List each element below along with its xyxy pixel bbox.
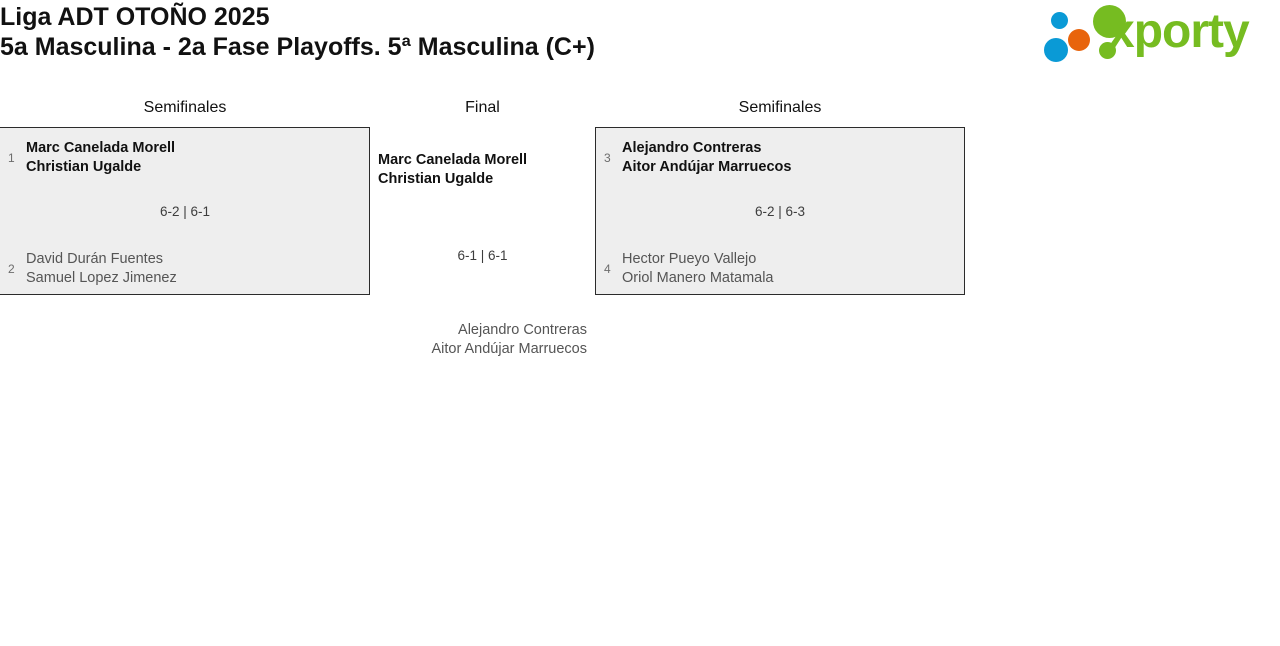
- team-slot-seed-1[interactable]: 1 Marc Canelada Morell Christian Ugalde: [8, 139, 175, 177]
- final-winner-team[interactable]: Marc Canelada Morell Christian Ugalde: [378, 151, 527, 189]
- logo-wordmark: xporty: [1108, 1, 1249, 63]
- seed-number: 2: [8, 262, 22, 276]
- match-score-semifinal-left: 6-2 | 6-1: [0, 203, 370, 220]
- match-score-final: 6-1 | 6-1: [370, 247, 595, 264]
- tournament-name: Liga ADT OTOÑO 2025: [0, 2, 595, 32]
- match-score-semifinal-right: 6-2 | 6-3: [595, 203, 965, 220]
- round-header-semifinals-left: Semifinales: [0, 98, 370, 118]
- player-name: David Durán Fuentes: [26, 250, 177, 269]
- player-name: Hector Pueyo Vallejo: [622, 250, 774, 269]
- player-name: Marc Canelada Morell: [26, 139, 175, 158]
- player-name: Christian Ugalde: [26, 158, 175, 177]
- player-name: Aitor Andújar Marruecos: [358, 340, 587, 359]
- xporty-logo[interactable]: xporty: [1040, 3, 1272, 65]
- team-players: Hector Pueyo Vallejo Oriol Manero Matama…: [622, 250, 774, 288]
- logo-dot-orange-icon: [1068, 29, 1090, 51]
- player-name: Samuel Lopez Jimenez: [26, 269, 177, 288]
- team-players: Alejandro Contreras Aitor Andújar Marrue…: [622, 139, 791, 177]
- seed-number: 4: [604, 262, 618, 276]
- page-title: Liga ADT OTOÑO 2025 5a Masculina - 2a Fa…: [0, 2, 595, 62]
- player-name: Oriol Manero Matamala: [622, 269, 774, 288]
- round-header-semifinals-right: Semifinales: [595, 98, 965, 118]
- player-name: Marc Canelada Morell: [378, 151, 527, 170]
- player-name: Christian Ugalde: [378, 170, 527, 189]
- team-players: David Durán Fuentes Samuel Lopez Jimenez: [26, 250, 177, 288]
- tournament-category: 5a Masculina - 2a Fase Playoffs. 5ª Masc…: [0, 32, 595, 62]
- team-players: Marc Canelada Morell Christian Ugalde: [26, 139, 175, 177]
- final-runnerup-team[interactable]: Alejandro Contreras Aitor Andújar Marrue…: [358, 321, 587, 359]
- player-name: Alejandro Contreras: [622, 139, 791, 158]
- team-slot-seed-2[interactable]: 2 David Durán Fuentes Samuel Lopez Jimen…: [8, 250, 177, 288]
- round-header-final: Final: [370, 98, 595, 118]
- seed-number: 1: [8, 151, 22, 165]
- team-slot-seed-3[interactable]: 3 Alejandro Contreras Aitor Andújar Marr…: [604, 139, 791, 177]
- seed-number: 3: [604, 151, 618, 165]
- logo-dot-blue-large-icon: [1044, 38, 1068, 62]
- player-name: Alejandro Contreras: [358, 321, 587, 340]
- player-name: Aitor Andújar Marruecos: [622, 158, 791, 177]
- logo-dot-blue-small-icon: [1051, 12, 1068, 29]
- team-slot-seed-4[interactable]: 4 Hector Pueyo Vallejo Oriol Manero Mata…: [604, 250, 774, 288]
- page-header: Liga ADT OTOÑO 2025 5a Masculina - 2a Fa…: [0, 0, 1280, 90]
